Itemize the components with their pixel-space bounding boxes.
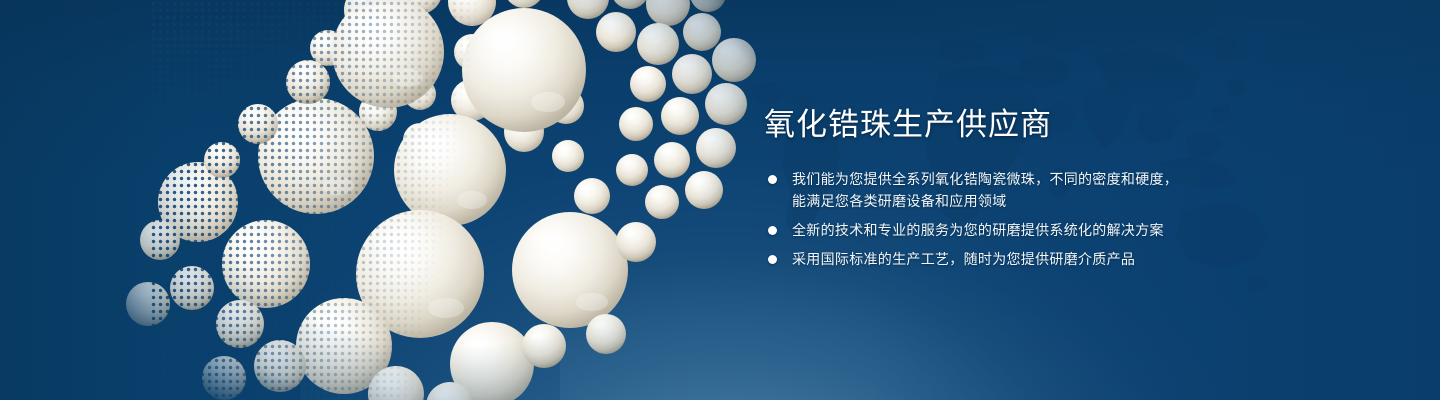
bullet-dot-icon	[768, 255, 777, 264]
bullet-line: 全新的技术和专业的服务为您的研磨提供系统化的解决方案	[792, 219, 1364, 241]
bullet-item-2: 全新的技术和专业的服务为您的研磨提供系统化的解决方案	[764, 219, 1364, 241]
bullet-line: 我们能为您提供全系列氧化锆陶瓷微珠，不同的密度和硬度，	[792, 168, 1364, 190]
bullet-item-1: 我们能为您提供全系列氧化锆陶瓷微珠，不同的密度和硬度， 能满足您各类研磨设备和应…	[764, 168, 1364, 212]
banner-bullet-list: 我们能为您提供全系列氧化锆陶瓷微珠，不同的密度和硬度， 能满足您各类研磨设备和应…	[764, 168, 1364, 270]
bullet-line: 能满足您各类研磨设备和应用领域	[792, 190, 1364, 212]
hero-banner: 氧化锆珠生产供应商 我们能为您提供全系列氧化锆陶瓷微珠，不同的密度和硬度， 能满…	[0, 0, 1440, 400]
banner-headline: 氧化锆珠生产供应商	[764, 106, 1364, 144]
bullet-dot-icon	[768, 226, 777, 235]
bullet-line: 采用国际标准的生产工艺，随时为您提供研磨介质产品	[792, 248, 1364, 270]
bullet-dot-icon	[768, 175, 777, 184]
bullet-item-3: 采用国际标准的生产工艺，随时为您提供研磨介质产品	[764, 248, 1364, 270]
banner-copy: 氧化锆珠生产供应商 我们能为您提供全系列氧化锆陶瓷微珠，不同的密度和硬度， 能满…	[764, 106, 1364, 270]
